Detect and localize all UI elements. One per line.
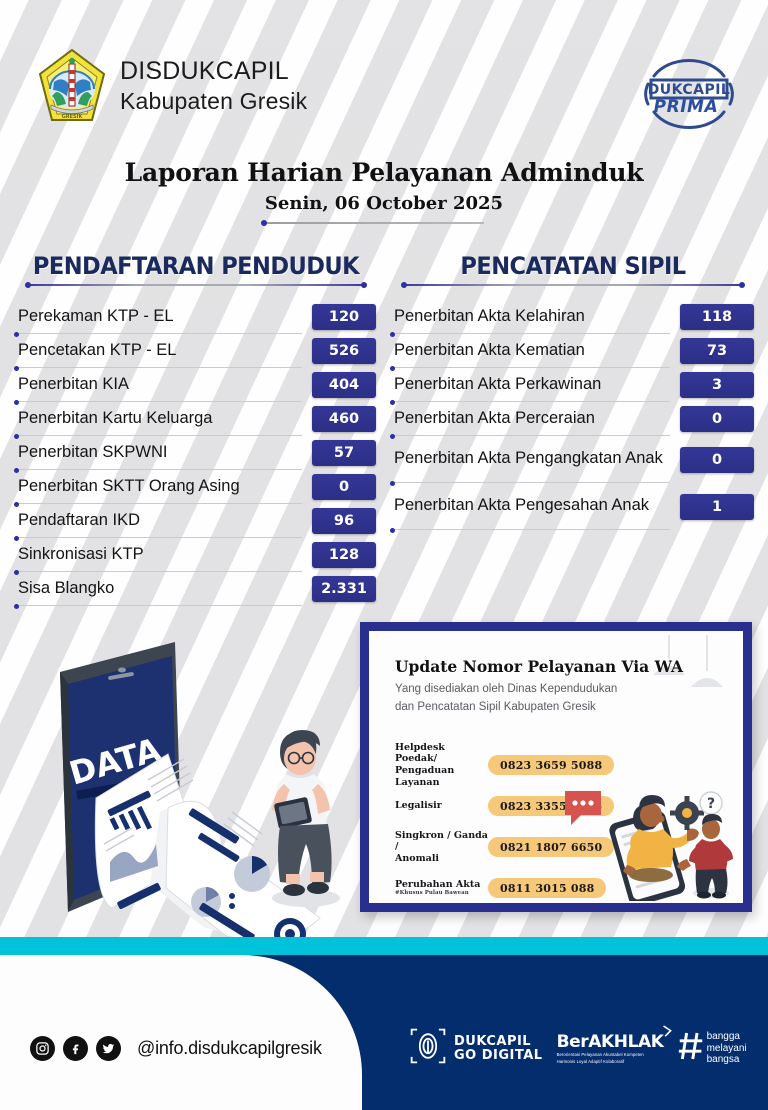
section-pendaftaran-penduduk: PENDAFTARAN PENDUDUK Perekaman KTP - EL … <box>16 252 376 606</box>
table-row: Penerbitan SKPWNI 57 <box>16 436 376 470</box>
customer-service-illustration: ? <box>559 751 739 901</box>
table-row: Pencetakan KTP - EL 526 <box>16 334 376 368</box>
stat-value: 0 <box>312 474 376 500</box>
stat-label: Penerbitan Akta Perceraian <box>392 402 670 436</box>
dukcapil-text-line2: GO DIGITAL <box>454 1048 543 1063</box>
bangga-line2: melayani <box>707 1043 747 1054</box>
social-handles: @info.disdukcapilgresik <box>30 1036 322 1061</box>
stat-label: Pencetakan KTP - EL <box>16 334 302 368</box>
wa-contact-label: Perubahan Akta #Khusus Pulau Bawean <box>395 879 488 897</box>
stat-label: Penerbitan Akta Pengesahan Anak <box>392 483 670 530</box>
section-heading-right-divider <box>403 284 743 286</box>
report-date: Senin, 06 October 2025 <box>265 193 503 214</box>
hashtag-icon <box>678 1031 704 1066</box>
svg-text:?: ? <box>707 796 715 812</box>
table-row: Penerbitan Akta Kematian 73 <box>392 334 754 368</box>
fingerprint-icon <box>408 1026 448 1071</box>
stat-value: 0 <box>680 447 754 473</box>
data-report-illustration: DATA <box>0 612 380 952</box>
table-row: Penerbitan Akta Pengangkatan Anak 0 <box>392 436 754 483</box>
wa-contact-label-line1: Helpdesk Poedak/ <box>395 742 445 765</box>
bangga-melayani-bangsa-logo: bangga melayani bangsa <box>678 1031 747 1066</box>
wa-card-title: Update Nomor Pelayanan Via WA <box>395 657 683 676</box>
stat-label: Penerbitan SKPWNI <box>16 436 302 470</box>
berakhlak-swoosh-icon <box>662 1025 673 1043</box>
berakhlak-text: BerAKHLAK <box>557 1032 664 1052</box>
wa-contact-label: Legalisir <box>395 800 488 812</box>
stat-value: 460 <box>312 406 376 432</box>
stat-label: Perekaman KTP - EL <box>16 300 302 334</box>
bangga-line3: bangsa <box>707 1054 740 1065</box>
stat-label: Pendaftaran IKD <box>16 504 302 538</box>
wa-contact-note: #Khusus Pulau Bawean <box>395 890 488 897</box>
wa-contact-label: Helpdesk Poedak/ Pengaduan Layanan <box>395 742 488 788</box>
stat-value: 526 <box>312 338 376 364</box>
wa-contact-label-line1: Perubahan Akta <box>395 879 480 890</box>
wa-contact-label: Singkron / Ganda / Anomali <box>395 830 488 865</box>
stat-label: Penerbitan SKTT Orang Asing <box>16 470 302 504</box>
page-title: Laporan Harian Pelayanan Adminduk <box>0 158 768 187</box>
social-handle-text: @info.disdukcapilgresik <box>137 1038 322 1059</box>
stat-label: Sinkronisasi KTP <box>16 538 302 572</box>
section-pencatatan-sipil: PENCATATAN SIPIL Penerbitan Akta Kelahir… <box>392 252 754 530</box>
stat-label: Penerbitan Akta Kelahiran <box>392 300 670 334</box>
table-row: Penerbitan Akta Perkawinan 3 <box>392 368 754 402</box>
wa-contact-label-line2: Pengaduan Layanan <box>395 765 454 788</box>
report-date-wrap: Senin, 06 October 2025 <box>0 193 768 214</box>
wa-subtitle-line1: Yang disediakan oleh Dinas Kependudukan <box>395 683 617 695</box>
table-row: Pendaftaran IKD 96 <box>16 504 376 538</box>
organization-title: DISDUKCAPIL Kabupaten Gresik <box>120 56 307 115</box>
berakhlak-sub-line1: Berorientasi Pelayanan Akuntabel Kompete… <box>557 1052 644 1057</box>
stat-value: 0 <box>680 406 754 432</box>
stat-label: Penerbitan KIA <box>16 368 302 402</box>
table-row: Penerbitan KIA 404 <box>16 368 376 402</box>
table-row: Penerbitan Akta Pengesahan Anak 1 <box>392 483 754 530</box>
stat-list-left: Perekaman KTP - EL 120 Pencetakan KTP - … <box>16 300 376 606</box>
gresik-coat-of-arms-icon: GRESIK <box>38 48 106 132</box>
table-row: Perekaman KTP - EL 120 <box>16 300 376 334</box>
instagram-icon[interactable] <box>30 1036 55 1061</box>
title-divider <box>264 222 484 224</box>
prima-logo-text-top: DUKCAPIL <box>648 82 731 98</box>
page-header: GRESIK DISDUKCAPIL Kabupaten Gresik DUKC… <box>0 46 768 142</box>
wa-subtitle-line2: dan Pencatatan Sipil Kabupaten Gresik <box>395 701 596 713</box>
stat-label: Sisa Blangko <box>16 572 302 606</box>
stat-label: Penerbitan Kartu Keluarga <box>16 402 302 436</box>
table-row: Penerbitan SKTT Orang Asing 0 <box>16 470 376 504</box>
stat-value: 3 <box>680 372 754 398</box>
stat-value: 1 <box>680 494 754 520</box>
dukcapil-prima-logo: DUKCAPIL PRIMA <box>634 54 744 134</box>
wa-contact-label-line2: Anomali <box>395 853 439 864</box>
berakhlak-sub-line2: Harmonis Loyal Adaptif Kolaboratif <box>557 1059 625 1064</box>
table-row: Penerbitan Akta Perceraian 0 <box>392 402 754 436</box>
section-heading-left: PENDAFTARAN PENDUDUK <box>27 252 365 280</box>
cyan-accent-bar <box>0 937 768 955</box>
section-heading-left-divider <box>27 284 365 286</box>
wa-contact-label-line1: Singkron / Ganda / <box>395 830 488 853</box>
infographic-page: GRESIK DISDUKCAPIL Kabupaten Gresik DUKC… <box>0 0 768 1110</box>
org-title-line1: DISDUKCAPIL <box>120 56 307 87</box>
berakhlak-logo: BerAKHLAK Berorientasi Pelayanan Akuntab… <box>557 1032 664 1065</box>
bangga-melayani-bangsa-text: bangga melayani bangsa <box>707 1031 747 1066</box>
wa-contact-label-line1: Legalisir <box>395 800 442 811</box>
prima-logo-text-bottom: PRIMA <box>652 97 720 117</box>
wa-service-numbers-card: Update Nomor Pelayanan Via WA Yang dised… <box>360 622 752 912</box>
table-row: Penerbitan Akta Kelahiran 118 <box>392 300 754 334</box>
bangga-line1: bangga <box>707 1031 740 1042</box>
table-row: Penerbitan Kartu Keluarga 460 <box>16 402 376 436</box>
stat-value: 118 <box>680 304 754 330</box>
svg-text:GRESIK: GRESIK <box>62 114 84 120</box>
org-title-line2: Kabupaten Gresik <box>120 87 307 115</box>
table-row: Sisa Blangko 2.331 <box>16 572 376 606</box>
table-row: Sinkronisasi KTP 128 <box>16 538 376 572</box>
stat-value: 96 <box>312 508 376 534</box>
dukcapil-go-digital-text: DUKCAPIL GO DIGITAL <box>454 1035 543 1062</box>
wa-card-subtitle: Yang disediakan oleh Dinas Kependudukan … <box>395 681 617 717</box>
stat-value: 73 <box>680 338 754 364</box>
stat-label: Penerbitan Akta Perkawinan <box>392 368 670 402</box>
stat-value: 120 <box>312 304 376 330</box>
partner-logos: DUKCAPIL GO DIGITAL BerAKHLAK Berorienta… <box>408 1026 747 1071</box>
stat-label: Penerbitan Akta Pengangkatan Anak <box>392 436 670 483</box>
person-illustration <box>272 730 340 907</box>
footer-white-panel <box>0 955 362 1110</box>
section-heading-right: PENCATATAN SIPIL <box>403 252 743 280</box>
berakhlak-subtitle: Berorientasi Pelayanan Akuntabel Kompete… <box>557 1052 644 1065</box>
stat-value: 2.331 <box>312 576 376 602</box>
stat-label: Penerbitan Akta Kematian <box>392 334 670 368</box>
stat-list-right: Penerbitan Akta Kelahiran 118 Penerbitan… <box>392 300 754 530</box>
stat-value: 404 <box>312 372 376 398</box>
stat-value: 57 <box>312 440 376 466</box>
facebook-icon[interactable] <box>63 1036 88 1061</box>
twitter-icon[interactable] <box>96 1036 121 1061</box>
dukcapil-go-digital-logo: DUKCAPIL GO DIGITAL <box>408 1026 543 1071</box>
stat-value: 128 <box>312 542 376 568</box>
